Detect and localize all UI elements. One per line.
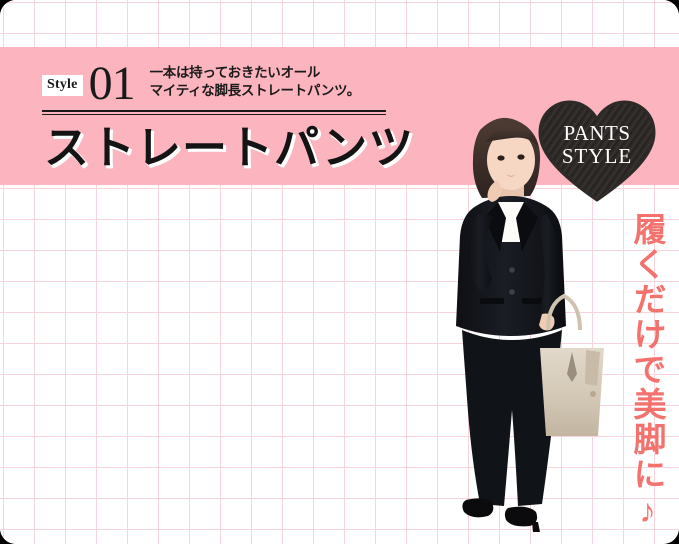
- model-pocket-left: [480, 298, 504, 304]
- model-eye-left: [497, 155, 504, 160]
- promo-banner-card: Style 01 一本は持っておきたいオール マイティな脚長ストレートパンツ。 …: [0, 0, 679, 544]
- pants-style-heart-badge: PANTS STYLE: [536, 96, 658, 208]
- model-jacket-button-top: [509, 267, 515, 273]
- model-shoe-heel: [532, 522, 540, 532]
- model-jacket-button-bottom: [509, 289, 515, 295]
- style-badge-label: Style: [42, 75, 83, 96]
- divider-rule-thin: [42, 114, 386, 115]
- heart-icon: [536, 96, 658, 208]
- double-rule-divider: [42, 110, 386, 115]
- subtitle-block: 一本は持っておきたいオール マイティな脚長ストレートパンツ。: [150, 64, 360, 100]
- style-number-row: Style 01 一本は持っておきたいオール マイティな脚長ストレートパンツ。: [42, 55, 392, 103]
- subtitle-line-2: マイティな脚長ストレートパンツ。: [150, 83, 360, 98]
- subtitle-line-1: 一本は持っておきたいオール: [150, 65, 321, 80]
- page-title: ストレートパンツ: [44, 121, 414, 174]
- bag-clasp: [590, 391, 596, 397]
- model-eye-right: [517, 154, 524, 159]
- style-number: 01: [89, 62, 135, 106]
- model-shoe-left: [462, 498, 493, 517]
- vertical-catch-copy: 履くだけで美脚に♪: [628, 212, 665, 531]
- header-content: Style 01 一本は持っておきたいオール マイティな脚長ストレートパンツ。: [42, 55, 392, 103]
